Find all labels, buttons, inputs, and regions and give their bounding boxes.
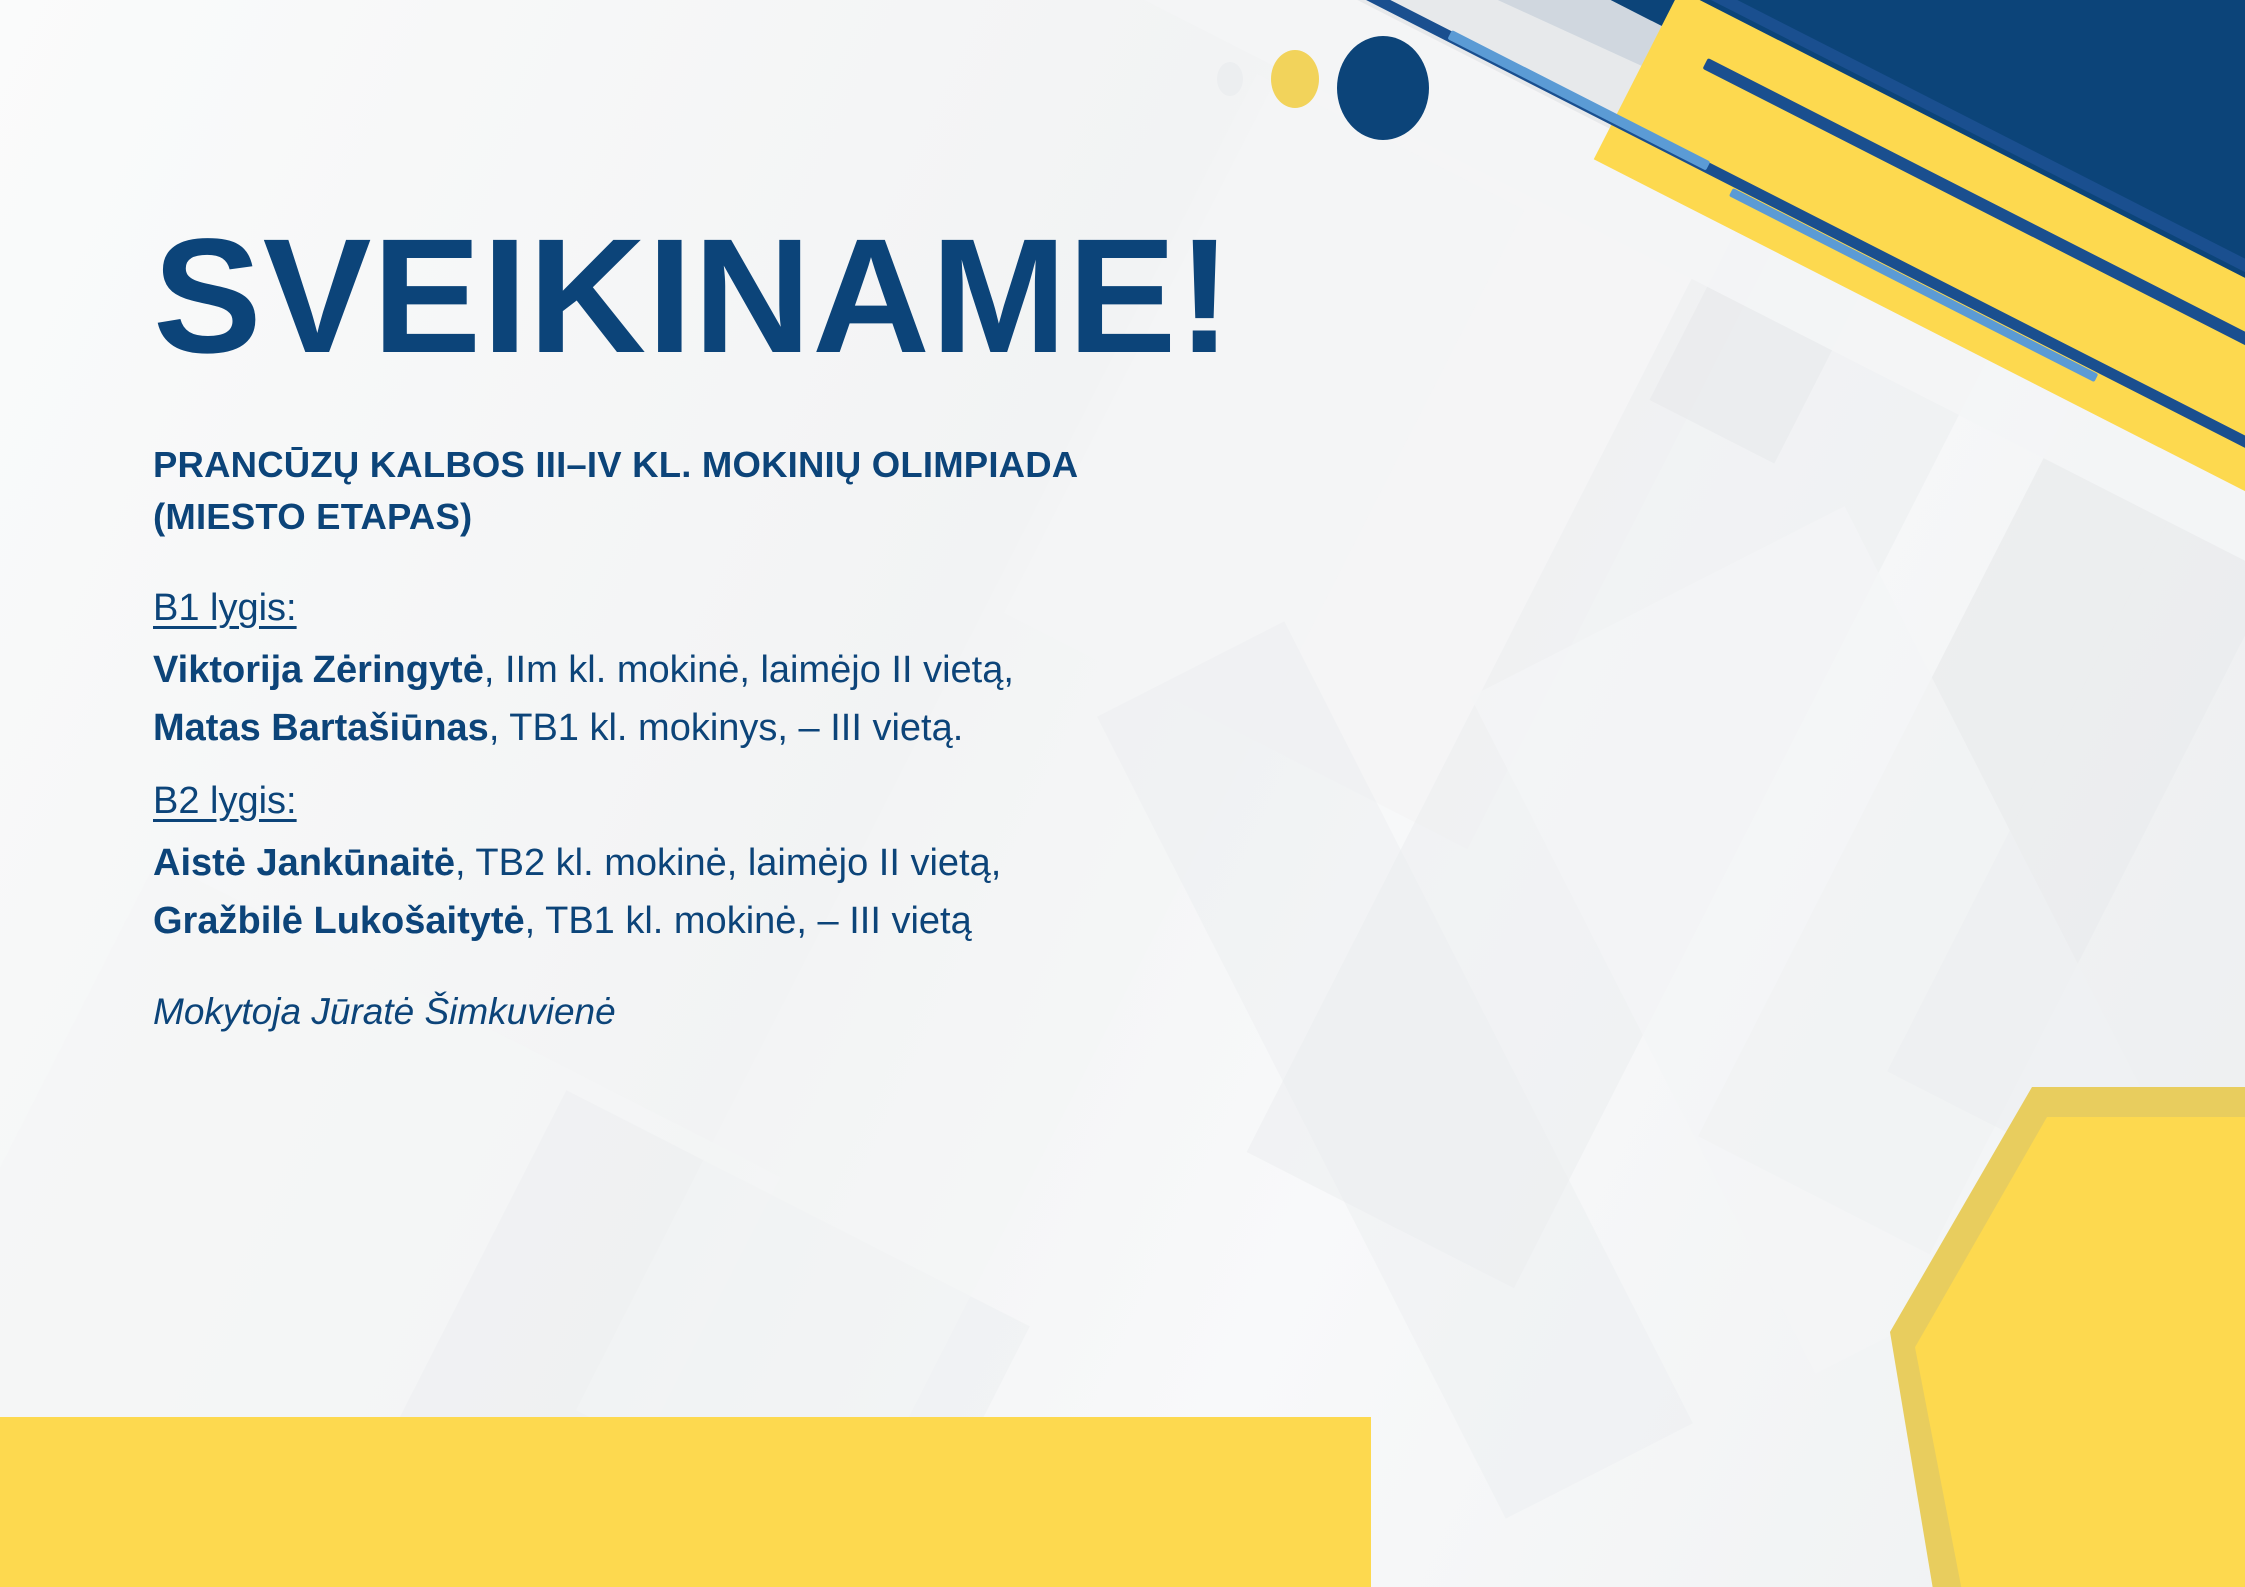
subtitle-line-2: (MIESTO ETAPAS): [153, 491, 1573, 543]
level-section-b2: B2 lygis: Aistė Jankūnaitė, TB2 kl. moki…: [153, 782, 1573, 949]
page-title: SVEIKINAME!: [153, 214, 1573, 377]
winner-entry: Matas Bartašiūnas, TB1 kl. mokinys, – II…: [153, 702, 1573, 756]
level-label-b2: B2 lygis:: [153, 782, 297, 820]
subtitle-line-1: PRANCŪZŲ KALBOS III–IV KL. MOKINIŲ OLIMP…: [153, 439, 1573, 491]
bottom-yellow-bar: [0, 1417, 1371, 1587]
winner-detail: , IIm kl. mokinė, laimėjo II vietą,: [484, 649, 1014, 691]
section-spacer: [153, 760, 1573, 782]
winner-detail: , TB1 kl. mokinys, – III vietą.: [489, 707, 963, 749]
winner-entry: Aistė Jankūnaitė, TB2 kl. mokinė, laimėj…: [153, 837, 1573, 891]
circle-yellow: [1271, 50, 1319, 108]
level-label-b1: B1 lygis:: [153, 589, 297, 627]
winner-name: Gražbilė Lukošaitytė: [153, 900, 525, 942]
winner-entry: Viktorija Zėringytė, IIm kl. mokinė, lai…: [153, 644, 1573, 698]
level-section-b1: B1 lygis: Viktorija Zėringytė, IIm kl. m…: [153, 589, 1573, 756]
winners-body: B1 lygis: Viktorija Zėringytė, IIm kl. m…: [153, 589, 1573, 1037]
poster-content: SVEIKINAME! PRANCŪZŲ KALBOS III–IV KL. M…: [153, 214, 1573, 1037]
winner-name: Viktorija Zėringytė: [153, 649, 484, 691]
winner-entry: Gražbilė Lukošaitytė, TB1 kl. mokinė, – …: [153, 895, 1573, 949]
winner-detail: , TB2 kl. mokinė, laimėjo II vietą,: [455, 842, 1001, 884]
winner-name: Matas Bartašiūnas: [153, 707, 489, 749]
poster-canvas: SVEIKINAME! PRANCŪZŲ KALBOS III–IV KL. M…: [0, 0, 2245, 1587]
circle-gray: [1217, 62, 1243, 96]
subtitle: PRANCŪZŲ KALBOS III–IV KL. MOKINIŲ OLIMP…: [153, 439, 1573, 543]
teacher-credit: Mokytoja Jūratė Šimkuvienė: [153, 988, 1573, 1036]
winner-detail: , TB1 kl. mokinė, – III vietą: [525, 900, 972, 942]
winner-name: Aistė Jankūnaitė: [153, 842, 455, 884]
circle-navy: [1337, 36, 1429, 140]
